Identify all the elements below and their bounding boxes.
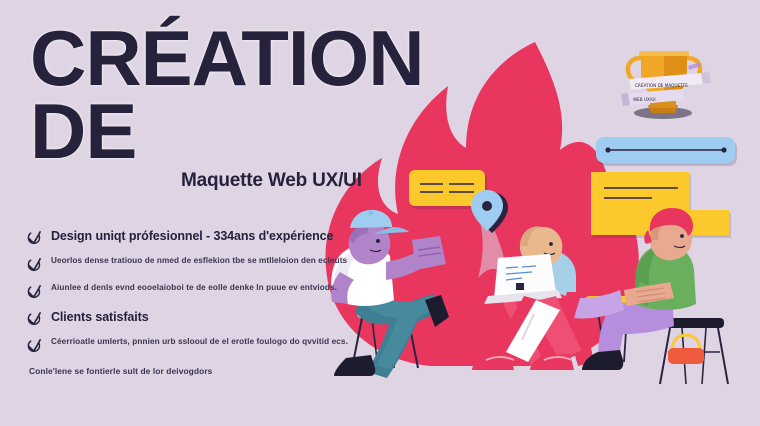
trophy-banner-line2: WEB UX/UI — [633, 97, 656, 102]
trophy-banner-line1: CRÉATION DE MAQUETTE — [635, 83, 688, 88]
trophy-icon: CRÉATION DE MAQUETTE WEB UX/UI — [621, 51, 711, 119]
list-item: Céerrioatle umlerts, pnnien urb sslooul … — [27, 337, 387, 354]
list-item: Clients satisfaits — [27, 310, 387, 327]
check-icon — [27, 284, 42, 299]
list-item: Aiunlee d denls evnd eooelaioboi te de e… — [27, 283, 387, 300]
list-item-label: Clients satisfaits — [51, 310, 149, 324]
list-item-label: Design uniqt prófesionnel - 334ans d'exp… — [51, 229, 333, 243]
list-item-label: Céerrioatle umlerts, pnnien urb sslooul … — [51, 337, 348, 346]
check-icon — [27, 257, 42, 272]
page-title: CRÉATION DE — [30, 22, 470, 167]
list-item-label: Ueorlos dense tratiouo de nmed de esflek… — [51, 256, 347, 265]
footnote-text: Conle'lene se fontierle sult de lor deiv… — [29, 366, 212, 376]
check-icon — [27, 311, 42, 326]
page-subtitle: Maquette Web UX/UI — [181, 170, 362, 192]
list-item-label: Aiunlee d denls evnd eooelaioboi te de e… — [51, 283, 337, 292]
check-icon — [27, 338, 42, 353]
blue-slider-card — [596, 137, 737, 166]
check-icon — [27, 230, 42, 245]
poster-canvas: CRÉATION DE MAQUETTE WEB UX/UI — [0, 0, 760, 426]
list-item: Ueorlos dense tratiouo de nmed de esflek… — [27, 256, 387, 273]
list-item: Design uniqt prófesionnel - 334ans d'exp… — [27, 229, 387, 246]
feature-list: Design uniqt prófesionnel - 334ans d'exp… — [27, 229, 387, 364]
